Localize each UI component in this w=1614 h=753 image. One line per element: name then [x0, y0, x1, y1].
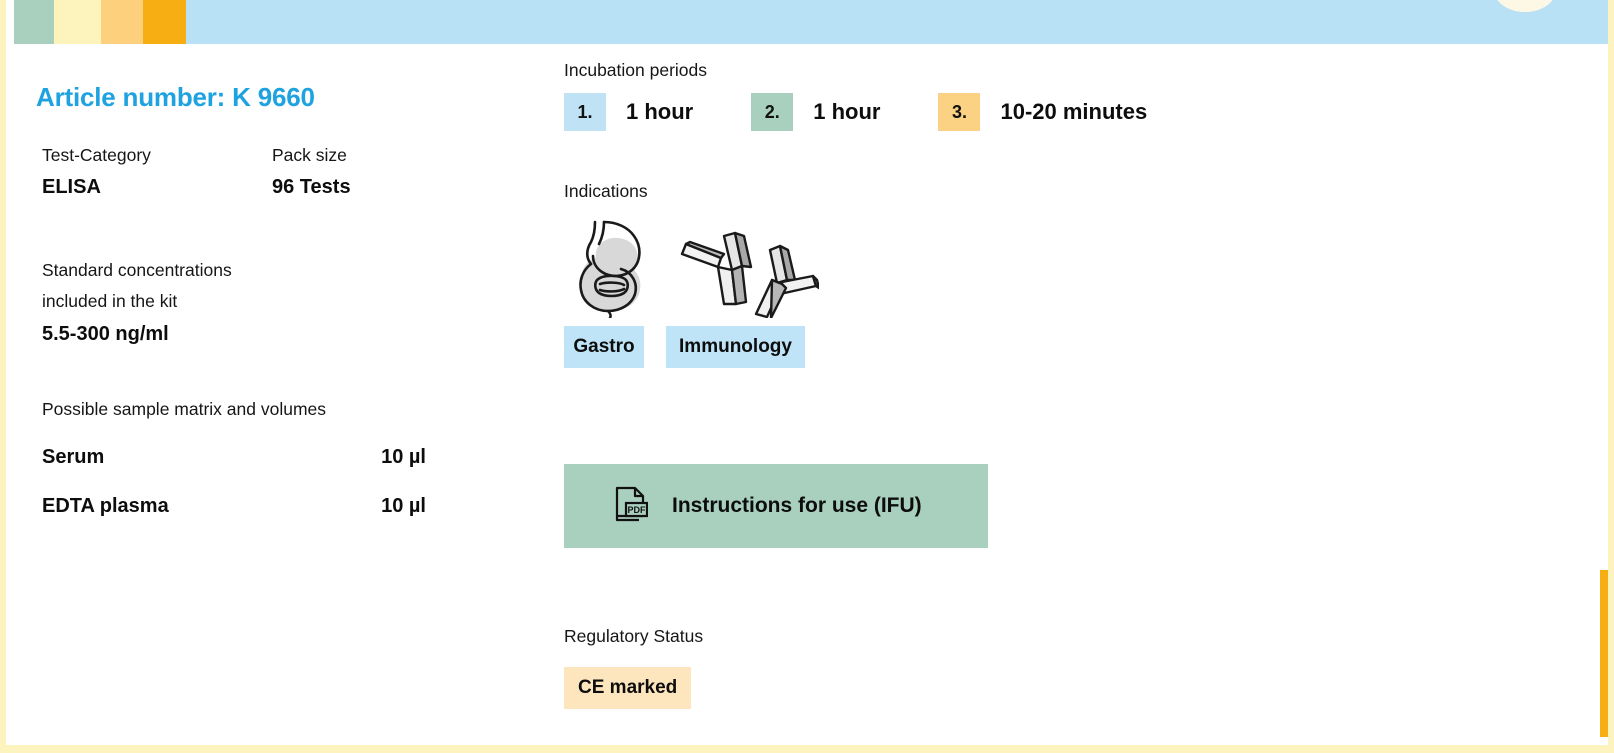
indications-icon-row [564, 214, 1464, 318]
standard-concentrations-label-line1: Standard concentrations [42, 255, 536, 286]
band-segment-orange [143, 0, 186, 44]
vertical-scrollbar-thumb[interactable] [1600, 570, 1608, 737]
assay-info-column: Incubation periods 1. 1 hour 2. 1 hour 3… [564, 60, 1464, 709]
product-meta-grid: Test-Category ELISA Pack size 96 Tests [36, 145, 536, 207]
test-category-label: Test-Category [42, 145, 151, 166]
regulatory-status-title: Regulatory Status [564, 626, 1464, 647]
indications-title: Indications [564, 181, 1464, 202]
incubation-step-1-duration: 1 hour [626, 99, 693, 125]
sample-matrix-name: Serum [42, 446, 104, 468]
band-segment-light-orange [101, 0, 143, 44]
pack-size-value: 96 Tests [272, 176, 351, 199]
sample-matrix-group: Possible sample matrix and volumes Serum… [42, 399, 536, 518]
product-details-column: Article number: K 9660 Test-Category ELI… [36, 60, 536, 518]
incubation-step-3-duration: 10-20 minutes [1000, 99, 1147, 125]
incubation-periods-section: Incubation periods 1. 1 hour 2. 1 hour 3… [564, 60, 1464, 131]
instructions-for-use-label: Instructions for use (IFU) [672, 494, 922, 518]
incubation-periods-title: Incubation periods [564, 60, 1464, 81]
instructions-for-use-button[interactable]: PDF Instructions for use (IFU) [564, 464, 988, 548]
regulatory-status-section: Regulatory Status CE marked [564, 626, 1464, 709]
sample-matrix-volume: 10 µl [381, 495, 426, 518]
sample-matrix-name: EDTA plasma [42, 495, 169, 517]
standard-concentrations-label-line2: included in the kit [42, 286, 536, 317]
incubation-step-1-badge: 1. [564, 93, 606, 131]
incubation-step-3: 3. 10-20 minutes [938, 93, 1147, 131]
band-segment-green [14, 0, 54, 44]
pack-size-group: Pack size 96 Tests [272, 145, 351, 199]
incubation-step-2: 2. 1 hour [751, 93, 880, 131]
band-segment-yellow [54, 0, 101, 44]
top-color-band [6, 0, 1608, 44]
sample-matrix-row: Serum 10 µl [42, 446, 426, 469]
incubation-step-3-badge: 3. [938, 93, 980, 131]
vertical-scrollbar-track[interactable] [1600, 0, 1608, 745]
pack-size-label: Pack size [272, 145, 351, 166]
page-title-article-number: Article number: K 9660 [36, 82, 536, 113]
svg-text:PDF: PDF [628, 505, 647, 515]
sample-matrix-volume: 10 µl [381, 446, 426, 469]
stomach-intestine-icon [564, 214, 650, 318]
sample-matrix-title: Possible sample matrix and volumes [42, 399, 536, 420]
sample-matrix-row: EDTA plasma 10 µl [42, 495, 426, 518]
content-canvas: Article number: K 9660 Test-Category ELI… [6, 0, 1608, 745]
test-category-value: ELISA [42, 176, 151, 199]
incubation-step-2-badge: 2. [751, 93, 793, 131]
incubation-step-2-duration: 1 hour [813, 99, 880, 125]
indications-section: Indications [564, 181, 1464, 368]
indication-tag-gastro[interactable]: Gastro [564, 326, 644, 368]
test-category-group: Test-Category ELISA [42, 145, 151, 199]
page-frame: Article number: K 9660 Test-Category ELI… [0, 0, 1614, 753]
standard-concentrations-group: Standard concentrations included in the … [42, 255, 536, 351]
indications-label-row: Gastro Immunology [564, 326, 1464, 368]
incubation-step-1: 1. 1 hour [564, 93, 693, 131]
standard-concentrations-value: 5.5-300 ng/ml [42, 317, 536, 351]
antibody-icon [674, 214, 819, 318]
incubation-steps-row: 1. 1 hour 2. 1 hour 3. 10-20 minutes [564, 93, 1464, 131]
indication-tag-immunology[interactable]: Immunology [666, 326, 805, 368]
status-badge-ce-marked: CE marked [564, 667, 691, 709]
band-segment-blue [186, 0, 1608, 44]
pdf-document-icon: PDF [614, 486, 648, 526]
